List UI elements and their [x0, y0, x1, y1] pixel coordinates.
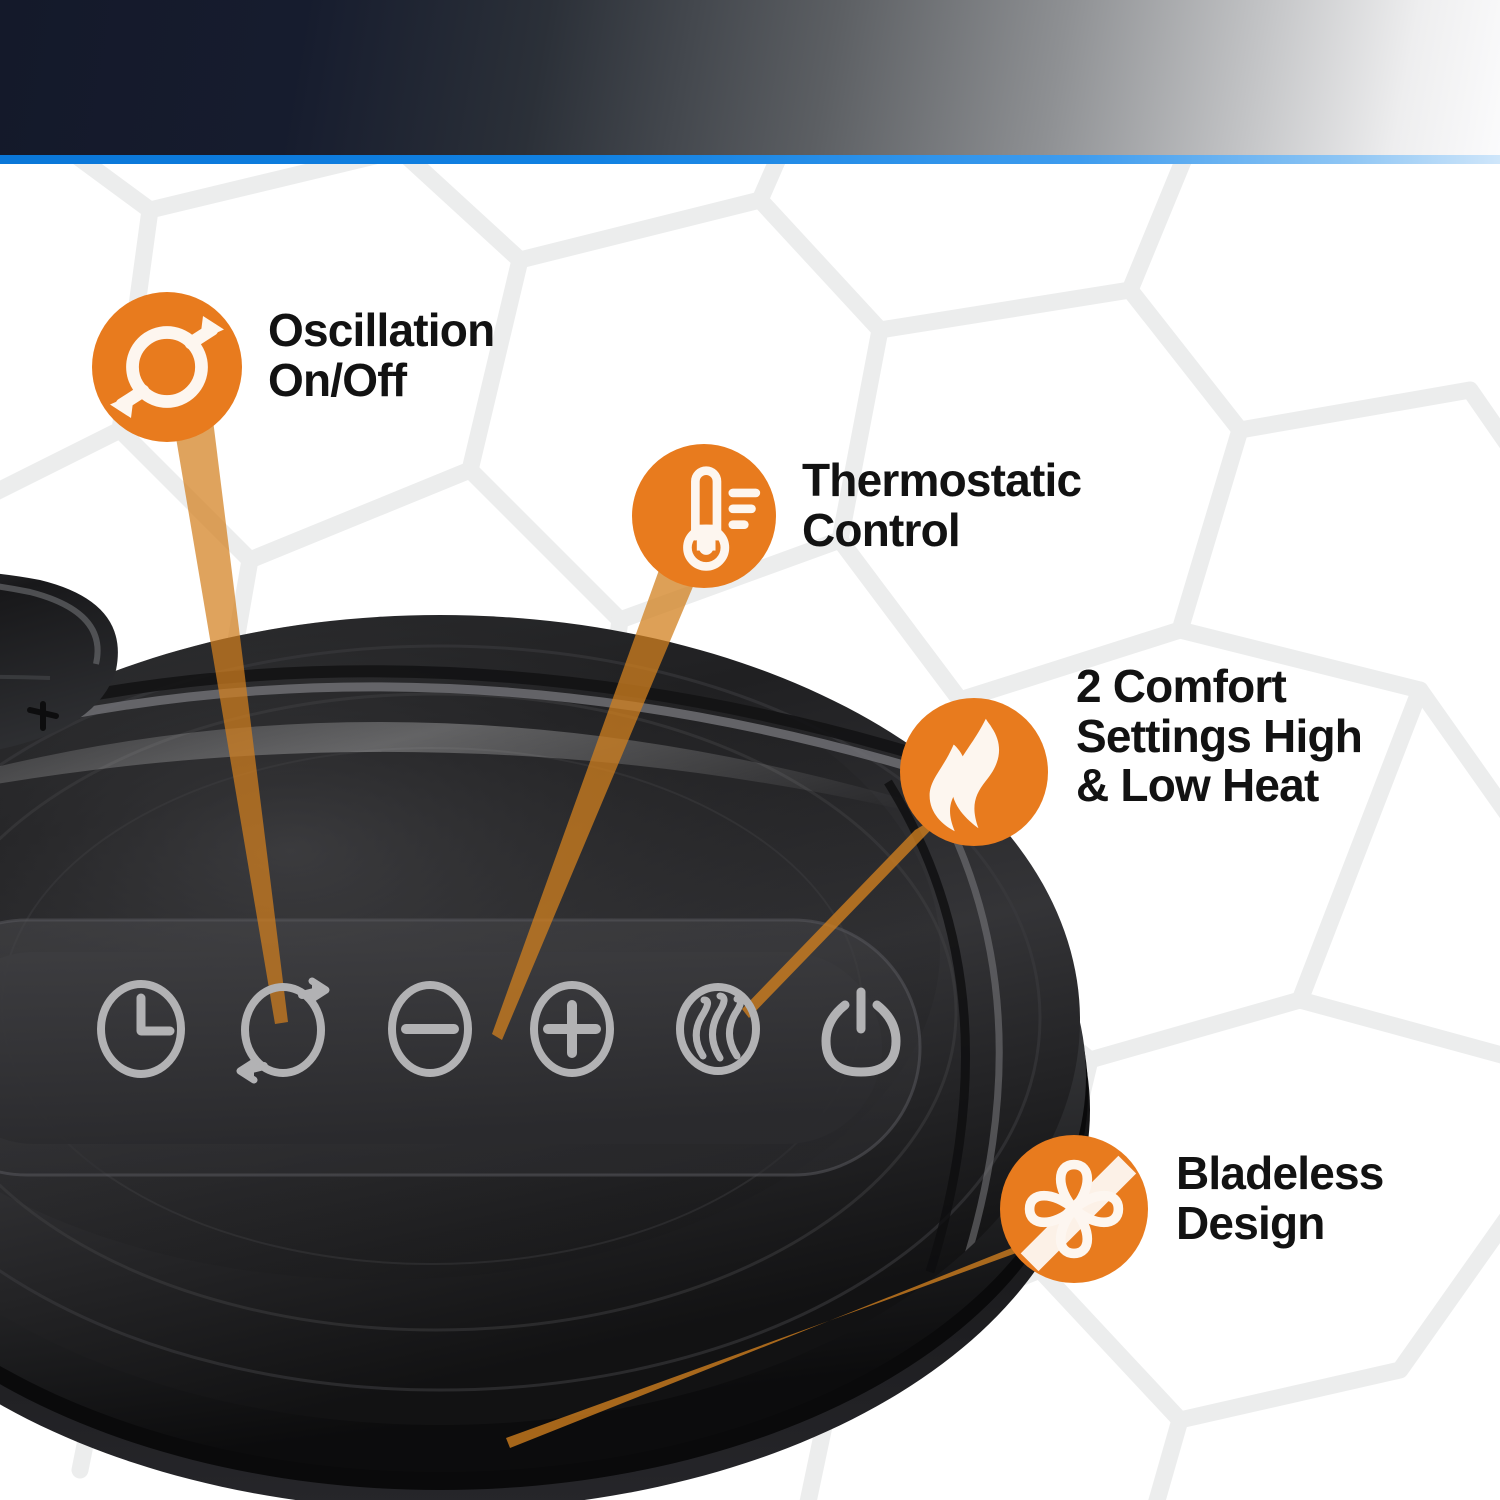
header-banner — [0, 0, 1500, 155]
oscillation-icon — [92, 292, 242, 442]
thermometer-icon — [632, 444, 776, 588]
header-accent-rule — [0, 155, 1500, 164]
product-image-bladeless-fan-heater — [0, 520, 1140, 1500]
feature-callout-oscillation[interactable]: Oscillation On/Off — [92, 292, 494, 442]
bladeless-fan-icon — [1000, 1135, 1148, 1283]
feature-label-comfort: 2 Comfort Settings High & Low Heat — [1076, 662, 1362, 811]
control-panel[interactable] — [0, 920, 920, 1175]
feature-label-oscillation: Oscillation On/Off — [268, 306, 494, 405]
feature-label-thermostat: Thermostatic Control — [802, 456, 1081, 555]
infographic-canvas: Key Features — [0, 0, 1500, 1500]
feature-callout-thermostat[interactable]: Thermostatic Control — [632, 444, 1081, 588]
feature-label-bladeless: Bladeless Design — [1176, 1149, 1384, 1248]
feature-callout-comfort[interactable]: 2 Comfort Settings High & Low Heat — [900, 698, 1362, 846]
feature-callout-bladeless[interactable]: Bladeless Design — [1000, 1135, 1384, 1283]
flame-icon — [900, 698, 1048, 846]
